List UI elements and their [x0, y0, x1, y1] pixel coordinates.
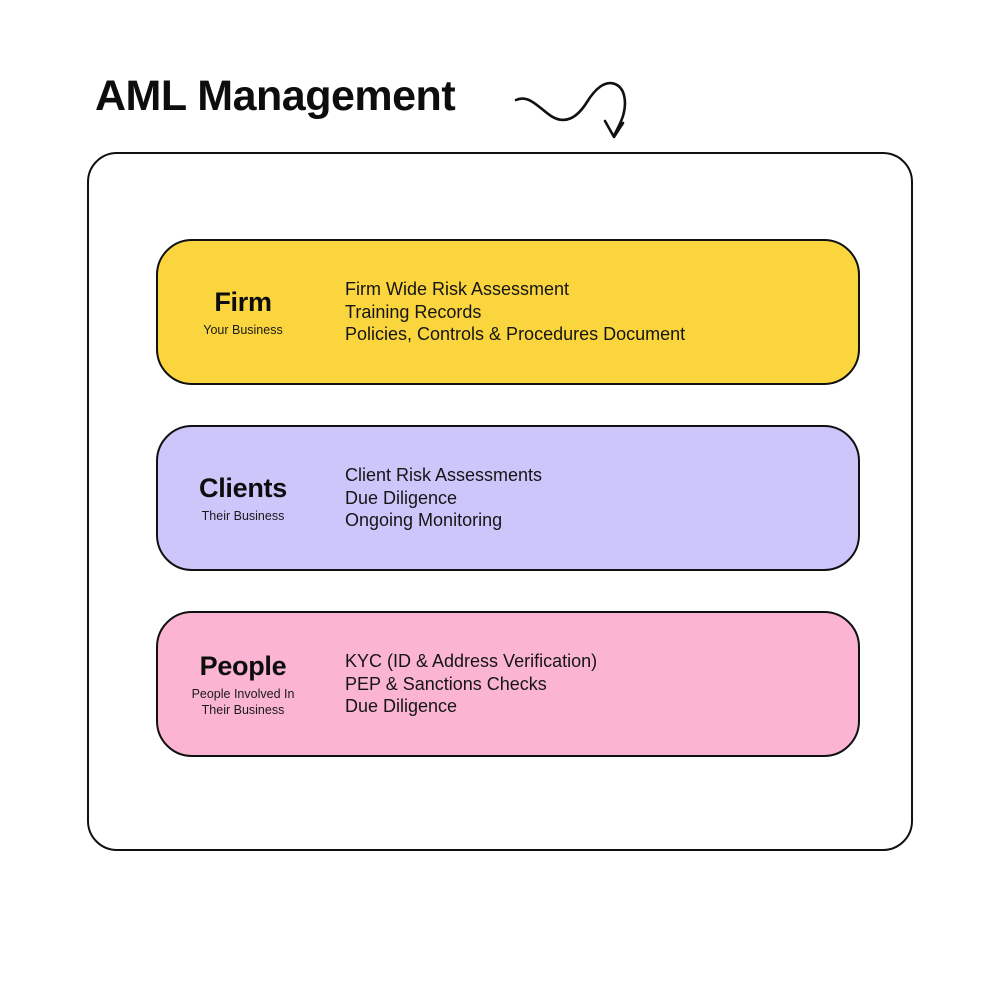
list-item: Ongoing Monitoring: [345, 509, 858, 532]
list-item: Training Records: [345, 301, 858, 324]
list-item: PEP & Sanctions Checks: [345, 673, 858, 696]
row-clients[interactable]: Clients Their Business Client Risk Asses…: [156, 425, 860, 571]
row-clients-label-group: Clients Their Business: [158, 473, 323, 524]
list-item: Firm Wide Risk Assessment: [345, 278, 858, 301]
list-item: Due Diligence: [345, 695, 858, 718]
row-people[interactable]: People People Involved In Their Business…: [156, 611, 860, 757]
row-people-items: KYC (ID & Address Verification) PEP & Sa…: [323, 650, 858, 718]
row-firm[interactable]: Firm Your Business Firm Wide Risk Assess…: [156, 239, 860, 385]
diagram-container: Firm Your Business Firm Wide Risk Assess…: [87, 152, 913, 851]
row-firm-label-group: Firm Your Business: [158, 287, 323, 338]
title-row: AML Management: [95, 70, 695, 140]
page-title: AML Management: [95, 70, 455, 122]
row-people-label-group: People People Involved In Their Business: [158, 651, 323, 718]
aml-management-diagram: AML Management Firm Your Business Firm W…: [0, 0, 1000, 1000]
category-rows: Firm Your Business Firm Wide Risk Assess…: [156, 239, 860, 757]
row-clients-sublabel: Their Business: [163, 508, 323, 524]
list-item: KYC (ID & Address Verification): [345, 650, 858, 673]
curved-arrow-icon: [513, 68, 653, 143]
row-people-sublabel: People Involved In Their Business: [163, 686, 323, 718]
row-people-title: People: [163, 651, 323, 682]
row-clients-items: Client Risk Assessments Due Diligence On…: [323, 464, 858, 532]
list-item: Due Diligence: [345, 487, 858, 510]
row-firm-items: Firm Wide Risk Assessment Training Recor…: [323, 278, 858, 346]
list-item: Client Risk Assessments: [345, 464, 858, 487]
row-firm-sublabel: Your Business: [163, 322, 323, 338]
row-clients-title: Clients: [163, 473, 323, 504]
row-firm-title: Firm: [163, 287, 323, 318]
list-item: Policies, Controls & Procedures Document: [345, 323, 858, 346]
